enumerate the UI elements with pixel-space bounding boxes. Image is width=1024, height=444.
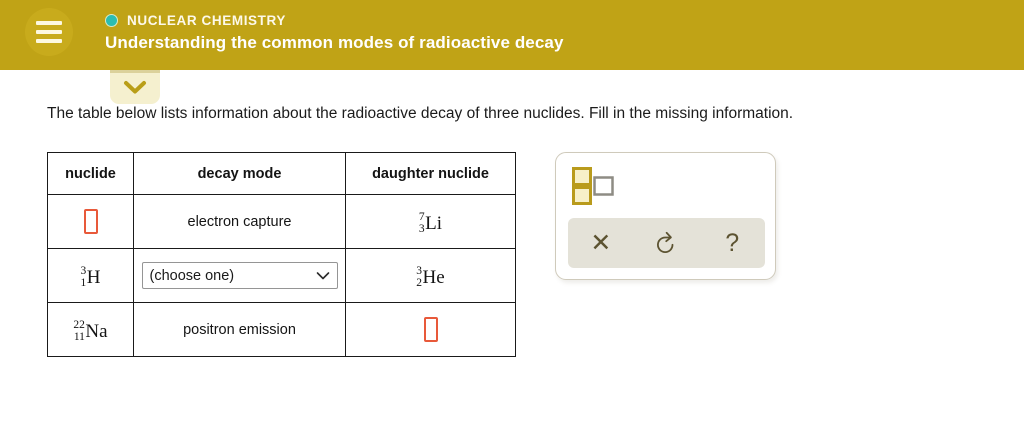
cell-decay-mode-row2: (choose one): [134, 249, 346, 303]
nuclide-answer-input-row1[interactable]: [84, 209, 98, 234]
table-row: electron capture 7 3 Li: [48, 195, 516, 249]
daughter-answer-input-row3[interactable]: [424, 317, 438, 342]
mass-number: 7: [419, 211, 425, 223]
hamburger-bar: [36, 21, 62, 25]
topic-row: NUCLEAR CHEMISTRY: [105, 10, 564, 30]
cell-daughter-row2: 3 2 He: [346, 249, 516, 303]
cell-nuclide-row2: 3 1 H: [48, 249, 134, 303]
element-symbol: Li: [425, 214, 442, 233]
tool-panel: ✕ ?: [555, 152, 776, 280]
table-row: 3 1 H (choose one) 3 2: [48, 249, 516, 303]
isotope-notation: 3 1 H: [81, 265, 101, 290]
hamburger-icon[interactable]: [25, 8, 73, 56]
isotope-notation: 7 3 Li: [419, 211, 442, 236]
table-header-row: nuclide decay mode daughter nuclide: [48, 153, 516, 195]
cell-decay-mode-row1: electron capture: [134, 195, 346, 249]
hamburger-bar: [36, 30, 62, 34]
cell-daughter-row3: [346, 303, 516, 357]
atomic-number: 11: [74, 331, 85, 343]
mass-number: 22: [73, 319, 85, 331]
isotope-notation: 22 11 Na: [73, 319, 107, 344]
isotope-numbers: 3 2: [416, 265, 422, 290]
column-header-daughter-nuclide: daughter nuclide: [346, 153, 516, 195]
nuclide-decay-table: nuclide decay mode daughter nuclide elec…: [47, 152, 516, 357]
cell-nuclide-row1: [48, 195, 134, 249]
cell-decay-mode-row3: positron emission: [134, 303, 346, 357]
hamburger-bar: [36, 39, 62, 43]
tool-actions-bar: ✕ ?: [568, 218, 765, 268]
undo-arrow-icon[interactable]: [644, 223, 688, 263]
isotope-notation: 3 2 He: [416, 265, 444, 290]
isotope-numbers: 3 1: [81, 265, 87, 290]
mass-number: 3: [416, 265, 422, 277]
decay-mode-select-row2[interactable]: (choose one): [142, 262, 338, 289]
element-symbol: He: [423, 268, 445, 287]
atomic-number: 1: [81, 277, 87, 289]
collapse-panel-button[interactable]: [110, 70, 160, 104]
app-header: NUCLEAR CHEMISTRY Understanding the comm…: [0, 0, 1024, 70]
atomic-number: 3: [419, 223, 425, 235]
element-symbol: Na: [85, 322, 107, 341]
undo-arrow-glyph: [654, 231, 678, 256]
mass-number: 3: [81, 265, 87, 277]
atomic-number: 2: [416, 277, 422, 289]
decay-mode-select-wrap: (choose one): [142, 262, 338, 289]
column-header-decay-mode: decay mode: [134, 153, 346, 195]
cell-nuclide-row3: 22 11 Na: [48, 303, 134, 357]
column-header-nuclide: nuclide: [48, 153, 134, 195]
topic-label: NUCLEAR CHEMISTRY: [127, 13, 286, 28]
header-text-block: NUCLEAR CHEMISTRY Understanding the comm…: [105, 10, 564, 53]
page-title: Understanding the common modes of radioa…: [105, 33, 564, 53]
chevron-down-icon: [123, 80, 147, 95]
element-symbol: H: [87, 268, 101, 287]
stacked-squares-icon[interactable]: [572, 167, 620, 205]
instruction-text: The table below lists information about …: [47, 105, 997, 123]
isotope-numbers: 7 3: [419, 211, 425, 236]
isotope-numbers: 22 11: [73, 319, 85, 344]
table-row: 22 11 Na positron emission: [48, 303, 516, 357]
topic-dot-icon: [105, 14, 118, 27]
close-icon[interactable]: ✕: [579, 223, 623, 263]
help-icon[interactable]: ?: [710, 223, 754, 263]
cell-daughter-row1: 7 3 Li: [346, 195, 516, 249]
